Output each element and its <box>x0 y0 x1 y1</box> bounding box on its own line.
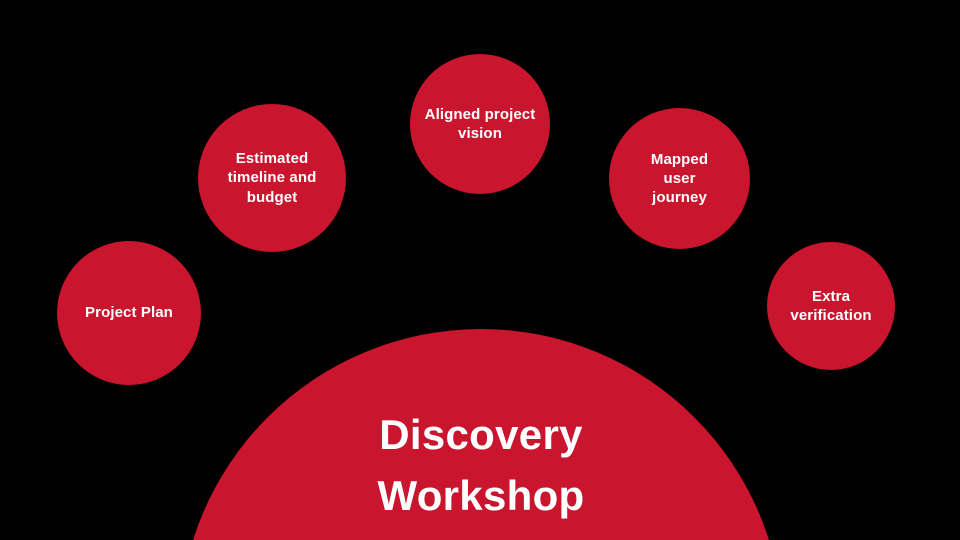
diagram-canvas: Project Plan Estimated timeline and budg… <box>0 0 960 540</box>
bubble-label-discovery-workshop: Discovery Workshop <box>251 405 711 527</box>
bubble-label-project-plan: Project Plan <box>59 303 199 322</box>
bubble-extra-verification[interactable]: Extra verification <box>767 242 895 370</box>
bubble-label-estimated-timeline-and-budget: Estimated timeline and budget <box>209 149 335 207</box>
bubble-label-aligned-project-vision: Aligned project vision <box>412 105 548 143</box>
bubble-discovery-workshop[interactable]: Discovery Workshop <box>179 329 783 540</box>
bubble-label-extra-verification: Extra verification <box>770 287 892 325</box>
bubble-project-plan[interactable]: Project Plan <box>57 241 201 385</box>
bubble-label-mapped-user-journey: Mapped user journey <box>632 150 728 208</box>
bubble-estimated-timeline-and-budget[interactable]: Estimated timeline and budget <box>198 104 346 252</box>
bubble-aligned-project-vision[interactable]: Aligned project vision <box>410 54 550 194</box>
bubble-mapped-user-journey[interactable]: Mapped user journey <box>609 108 750 249</box>
